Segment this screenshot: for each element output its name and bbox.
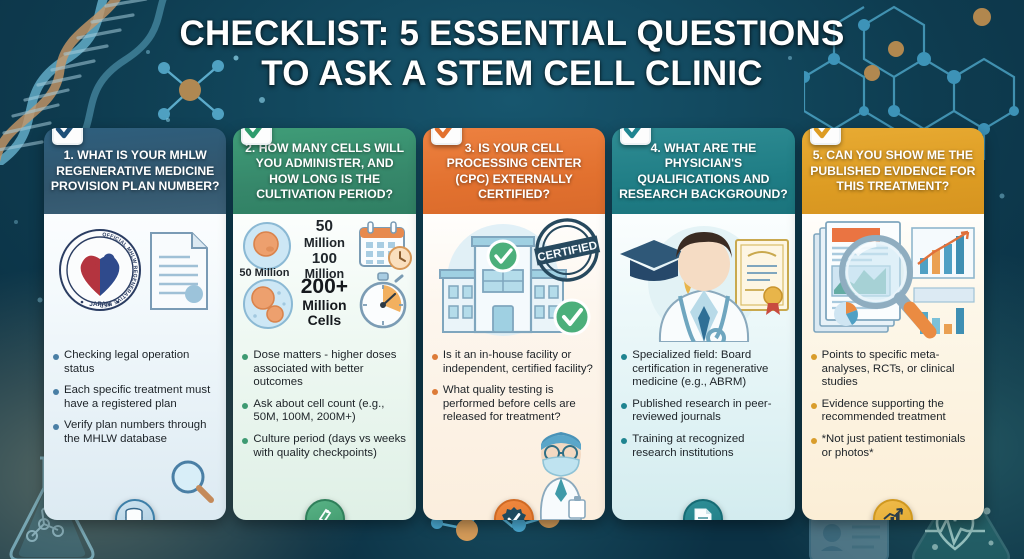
card-3-illustration: CERTIFIED bbox=[423, 214, 605, 342]
certificate-icon bbox=[736, 240, 788, 315]
checklist-card-4[interactable]: 4. WHAT ARE THE PHYSICIAN'S QUALIFICATIO… bbox=[612, 128, 794, 520]
bullet-item: Verify plan numbers through the MHLW dat… bbox=[53, 419, 218, 446]
bullet-dot bbox=[53, 389, 59, 395]
cell-count-50-unit: Million bbox=[291, 235, 357, 250]
checklist-card-1[interactable]: 1. WHAT IS YOUR MHLW REGENERATIVE MEDICI… bbox=[44, 128, 226, 520]
bullet-item: Published research in peer-reviewed jour… bbox=[621, 398, 786, 425]
check-circle-icon bbox=[488, 241, 518, 271]
card-3-body: CERTIFIED Is it an in-house facility or … bbox=[423, 214, 605, 520]
bullet-item: Culture period (days vs weeks with quali… bbox=[242, 433, 407, 460]
bullet-dot bbox=[432, 354, 438, 360]
bullet-dot bbox=[242, 438, 248, 444]
checklist-card-5[interactable]: 5. CAN YOU SHOW ME THE PUBLISHED EVIDENC… bbox=[802, 128, 984, 520]
checklist-cards: 1. WHAT IS YOUR MHLW REGENERATIVE MEDICI… bbox=[44, 128, 984, 520]
stopwatch-icon bbox=[356, 272, 410, 330]
bullet-dot bbox=[432, 389, 438, 395]
bullet-item: Each specific treatment must have a regi… bbox=[53, 384, 218, 411]
bullet-item: Ask about cell count (e.g., 50M, 100M, 2… bbox=[242, 398, 407, 425]
card-5-illustration bbox=[802, 214, 984, 342]
official-seal-icon: JAPAN OFFICIAL MHLW REGENERATIVE MEDICIN… bbox=[58, 228, 142, 312]
card-1-bullets: Checking legal operation status Each spe… bbox=[44, 342, 226, 461]
card-1-illustration: JAPAN OFFICIAL MHLW REGENERATIVE MEDICIN… bbox=[44, 214, 226, 342]
cell-count-200plus: 200+ bbox=[291, 276, 357, 298]
document-icon bbox=[148, 230, 210, 312]
card-2-illustration: 50 Million 100 Million 50 Million bbox=[233, 214, 415, 342]
check-circle-icon bbox=[555, 300, 589, 334]
cell-count-50: 50 bbox=[291, 218, 357, 235]
card-4-body: Specialized field: Board certification i… bbox=[612, 214, 794, 520]
bullet-item: Dose matters - higher doses associated w… bbox=[242, 349, 407, 390]
bullet-item: Points to specific meta-analyses, RCTs, … bbox=[811, 349, 976, 390]
stem-cell-divided-icon bbox=[241, 276, 295, 332]
card-5-body: Points to specific meta-analyses, RCTs, … bbox=[802, 214, 984, 520]
cell-count-200-unit: Million bbox=[291, 298, 357, 313]
checklist-card-3[interactable]: 3. IS YOUR CELL PROCESSING CENTER (CPC) … bbox=[423, 128, 605, 520]
bullet-dot bbox=[53, 424, 59, 430]
bar-chart-icon bbox=[912, 228, 974, 278]
bullet-dot bbox=[811, 354, 817, 360]
checklist-card-2[interactable]: 2. HOW MANY CELLS WILL YOU ADMINISTER, A… bbox=[233, 128, 415, 520]
card-2-body: 50 Million 100 Million 50 Million bbox=[233, 214, 415, 520]
bullet-item: Training at recognized research institut… bbox=[621, 433, 786, 460]
bullet-dot bbox=[621, 354, 627, 360]
checkbox-checked-gold-icon[interactable] bbox=[810, 128, 841, 145]
bullet-dot bbox=[242, 354, 248, 360]
card-3-bullets: Is it an in-house facility or independen… bbox=[423, 342, 605, 439]
checkbox-checked-green-icon[interactable] bbox=[241, 128, 272, 145]
bullet-dot bbox=[621, 438, 627, 444]
bullet-item: Evidence supporting the recommended trea… bbox=[811, 398, 976, 425]
card-1-body: JAPAN OFFICIAL MHLW REGENERATIVE MEDICIN… bbox=[44, 214, 226, 520]
title-line-2: TO ASK A STEM CELL CLINIC bbox=[0, 54, 1024, 94]
bullet-dot bbox=[621, 403, 627, 409]
cell-count-cells-label: Cells bbox=[291, 313, 357, 328]
bullet-item: Specialized field: Board certification i… bbox=[621, 349, 786, 390]
cell-count-100: 100 bbox=[291, 251, 357, 267]
magnifier-icon bbox=[168, 458, 216, 506]
card-2-bullets: Dose matters - higher doses associated w… bbox=[233, 342, 415, 474]
card-4-illustration bbox=[612, 214, 794, 342]
calendar-icon bbox=[356, 218, 412, 270]
bullet-item: Is it an in-house facility or independen… bbox=[432, 349, 597, 376]
infographic-canvas: CHECKLIST: 5 ESSENTIAL QUESTIONS TO ASK … bbox=[0, 0, 1024, 559]
bullet-dot bbox=[811, 438, 817, 444]
checkbox-checked-blue-icon[interactable] bbox=[52, 128, 83, 145]
page-title: CHECKLIST: 5 ESSENTIAL QUESTIONS TO ASK … bbox=[0, 14, 1024, 94]
bullet-dot bbox=[811, 403, 817, 409]
bullet-dot bbox=[242, 403, 248, 409]
bullet-item: Checking legal operation status bbox=[53, 349, 218, 376]
bullet-item: What quality testing is performed before… bbox=[432, 384, 597, 425]
bullet-dot bbox=[53, 354, 59, 360]
bullet-item: *Not just patient testimonials or photos… bbox=[811, 433, 976, 460]
title-line-1: CHECKLIST: 5 ESSENTIAL QUESTIONS bbox=[0, 14, 1024, 54]
checkbox-checked-teal-icon[interactable] bbox=[620, 128, 651, 145]
card-5-bullets: Points to specific meta-analyses, RCTs, … bbox=[802, 342, 984, 474]
card-4-bullets: Specialized field: Board certification i… bbox=[612, 342, 794, 474]
checkbox-checked-orange-icon[interactable] bbox=[431, 128, 462, 145]
stem-cell-icon bbox=[241, 220, 293, 272]
